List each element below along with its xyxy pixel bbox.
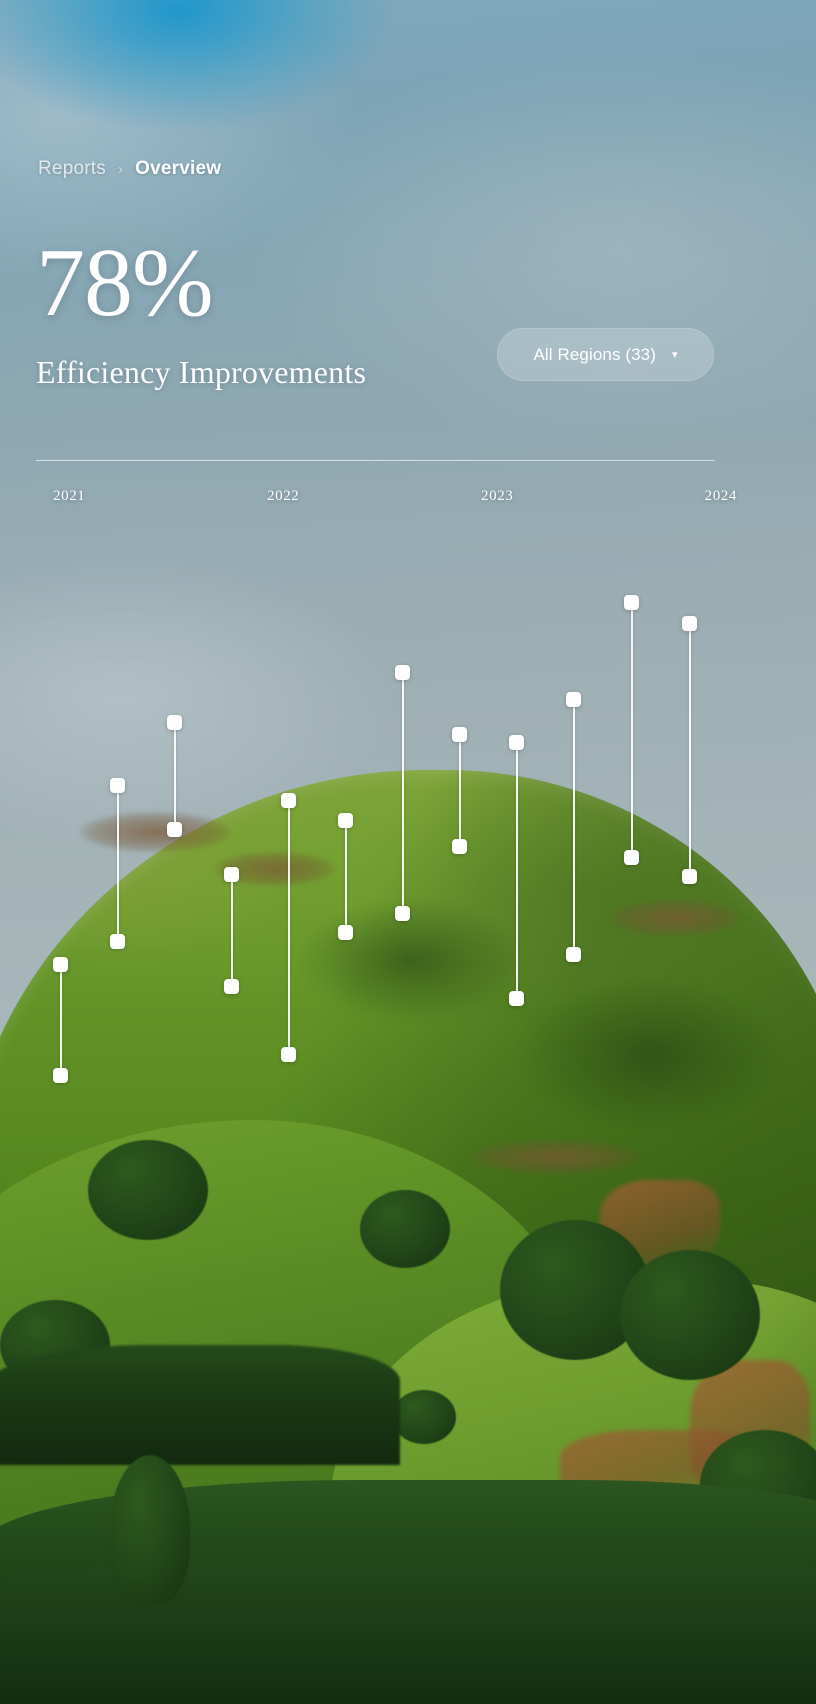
- dumbbell-node-low[interactable]: [395, 906, 410, 921]
- dumbbell-connector: [60, 965, 62, 1076]
- dumbbell-node-high[interactable]: [281, 793, 296, 808]
- dumbbell-column[interactable]: [167, 715, 182, 837]
- dumbbell-node-low[interactable]: [682, 869, 697, 884]
- dumbbell-node-low[interactable]: [338, 925, 353, 940]
- dumbbell-column[interactable]: [338, 813, 353, 940]
- dumbbell-node-low[interactable]: [224, 979, 239, 994]
- dumbbell-connector: [689, 624, 691, 877]
- dumbbell-column[interactable]: [53, 957, 68, 1083]
- dumbbell-column[interactable]: [682, 616, 697, 884]
- dumbbell-node-high[interactable]: [224, 867, 239, 882]
- dumbbell-node-high[interactable]: [395, 665, 410, 680]
- dumbbell-column[interactable]: [452, 727, 467, 854]
- dumbbell-column[interactable]: [509, 735, 524, 1006]
- dumbbell-node-low[interactable]: [509, 991, 524, 1006]
- dumbbell-connector: [231, 875, 233, 987]
- dumbbell-node-low[interactable]: [452, 839, 467, 854]
- dumbbell-connector: [345, 821, 347, 933]
- dumbbell-column[interactable]: [224, 867, 239, 994]
- dumbbell-connector: [174, 723, 176, 830]
- dumbbell-node-high[interactable]: [624, 595, 639, 610]
- dumbbell-connector: [516, 743, 518, 999]
- dumbbell-node-high[interactable]: [110, 778, 125, 793]
- dashboard-overlay: Reports › Overview 78% Efficiency Improv…: [0, 0, 816, 1704]
- dumbbell-connector: [631, 603, 633, 858]
- dumbbell-column[interactable]: [281, 793, 296, 1062]
- dumbbell-node-high[interactable]: [566, 692, 581, 707]
- dumbbell-column[interactable]: [624, 595, 639, 865]
- dumbbell-node-low[interactable]: [110, 934, 125, 949]
- dumbbell-node-low[interactable]: [53, 1068, 68, 1083]
- dumbbell-node-high[interactable]: [53, 957, 68, 972]
- dumbbell-connector: [117, 786, 119, 942]
- dumbbell-node-high[interactable]: [509, 735, 524, 750]
- dumbbell-connector: [573, 700, 575, 955]
- dumbbell-node-low[interactable]: [167, 822, 182, 837]
- dumbbell-node-high[interactable]: [338, 813, 353, 828]
- dumbbell-node-high[interactable]: [167, 715, 182, 730]
- dumbbell-node-low[interactable]: [566, 947, 581, 962]
- dumbbell-column[interactable]: [395, 665, 410, 921]
- dumbbell-node-high[interactable]: [682, 616, 697, 631]
- dumbbell-column[interactable]: [110, 778, 125, 949]
- dumbbell-connector: [459, 735, 461, 847]
- dumbbell-connector: [288, 801, 290, 1055]
- dumbbell-column[interactable]: [566, 692, 581, 962]
- dumbbell-chart: [0, 0, 816, 1704]
- dumbbell-node-high[interactable]: [452, 727, 467, 742]
- dumbbell-node-low[interactable]: [624, 850, 639, 865]
- dumbbell-connector: [402, 673, 404, 914]
- dumbbell-node-low[interactable]: [281, 1047, 296, 1062]
